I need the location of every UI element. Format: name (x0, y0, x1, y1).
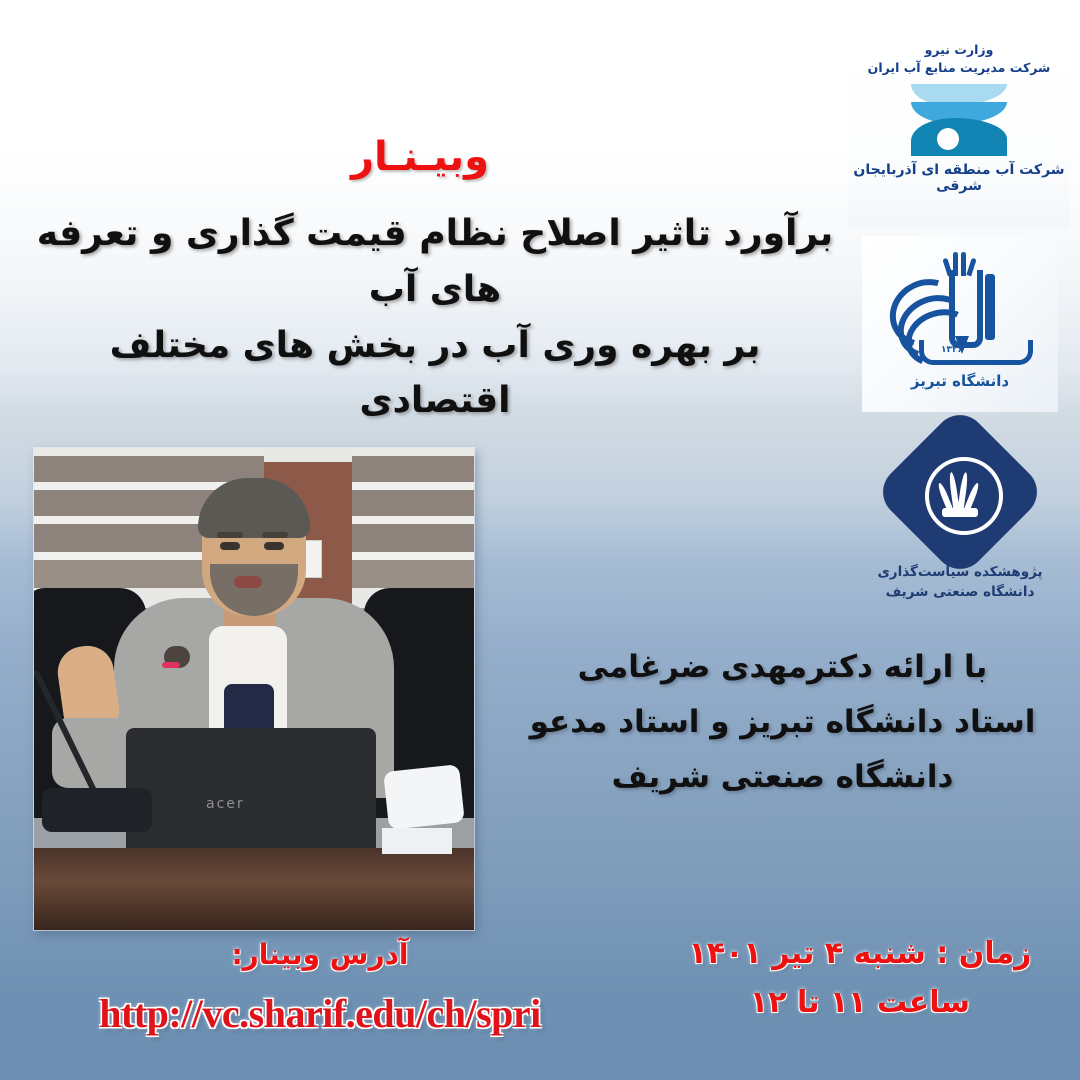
regional-water-company-caption: شرکت آب منطقه ای آذربایجان شرقی (848, 162, 1070, 194)
webinar-kicker-label: وبیـنـار (0, 134, 840, 180)
tabriz-emblem-icon: ۱۳۲۶ (885, 244, 1035, 368)
webinar-poster: وزارت نیرو شرکت مدیریت منابع آب ایران شر… (0, 0, 1080, 1080)
event-time: ساعت ۱۱ تا ۱۲ (660, 979, 1060, 1028)
laptop-brand-label: acer (206, 796, 245, 812)
sharif-caption-line2: دانشگاه صنعتی شریف (860, 582, 1060, 602)
sharif-policy-institute-logo: پژوهشکده سیاست‌گذاری دانشگاه صنعتی شریف (860, 430, 1060, 620)
ministry-logo-line2: شرکت مدیریت منابع آب ایران (848, 60, 1070, 75)
tabriz-founding-year: ۱۳۲۶ (941, 344, 963, 355)
tabriz-logo-caption: دانشگاه تبریز (862, 372, 1058, 390)
title-line-1: برآورد تاثیر اصلاح نظام قیمت گذاری و تعر… (30, 206, 840, 318)
speaker-affiliation-2: دانشگاه صنعتی شریف (505, 750, 1060, 805)
sharif-emblem-icon (898, 430, 1022, 554)
ministry-logo-line1: وزارت نیرو (848, 42, 1070, 57)
event-datetime: زمان : شنبه ۴ تیر ۱۴۰۱ ساعت ۱۱ تا ۱۲ (660, 930, 1060, 1027)
webinar-url-link[interactable]: http://vc.sharif.edu/ch/spri (0, 990, 640, 1037)
speaker-info: با ارائه دکترمهدی ضرغامی استاد دانشگاه ت… (505, 640, 1060, 806)
water-wave-icon (911, 84, 1007, 156)
ministry-of-energy-logo: وزارت نیرو شرکت مدیریت منابع آب ایران شر… (848, 28, 1070, 228)
university-of-tabriz-logo: ۱۳۲۶ دانشگاه تبریز (862, 236, 1058, 412)
event-date: زمان : شنبه ۴ تیر ۱۴۰۱ (660, 930, 1060, 979)
speaker-photo: acer (34, 448, 474, 930)
page-title: برآورد تاثیر اصلاح نظام قیمت گذاری و تعر… (30, 206, 840, 429)
speaker-name: با ارائه دکترمهدی ضرغامی (505, 640, 1060, 695)
webinar-address-label: آدرس وبینار: (0, 938, 640, 971)
title-line-2: بر بهره وری آب در بخش های مختلف اقتصادی (30, 318, 840, 430)
logo-column: وزارت نیرو شرکت مدیریت منابع آب ایران شر… (840, 0, 1080, 640)
speaker-affiliation-1: استاد دانشگاه تبریز و استاد مدعو (505, 695, 1060, 750)
